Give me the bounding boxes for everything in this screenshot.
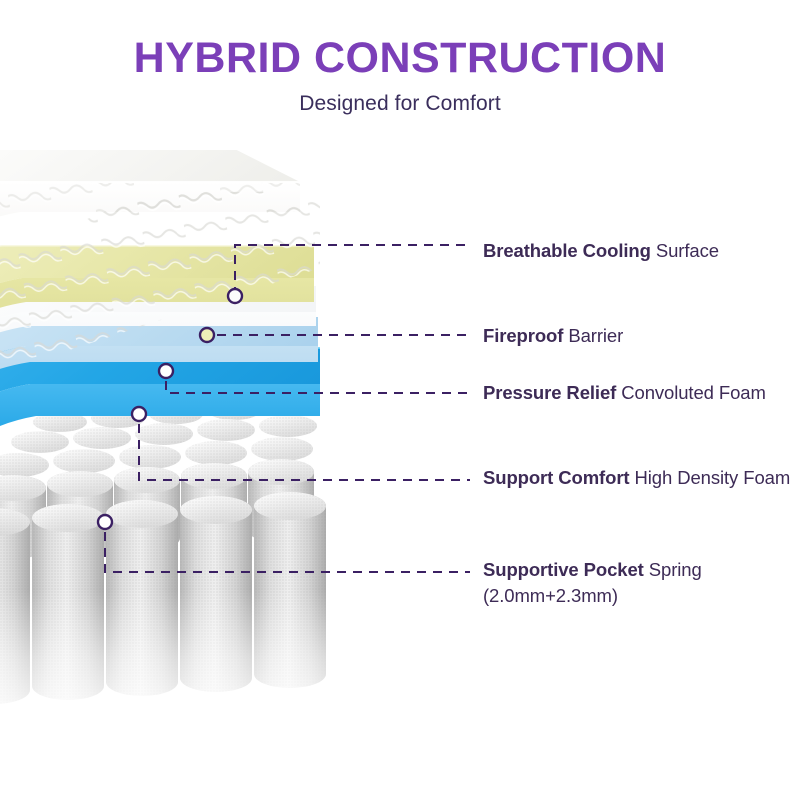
- callout-marker-fireproof: [200, 328, 214, 342]
- page-subtitle: Designed for Comfort: [0, 81, 800, 116]
- callout-label-supportive-pocket: Supportive Pocket Spring (2.0mm+2.3mm): [483, 557, 795, 610]
- callout-rest-text: Barrier: [563, 325, 623, 346]
- callout-label-pressure-relief: Pressure Relief Convoluted Foam: [483, 380, 795, 406]
- callout-bold-text: Pressure Relief: [483, 382, 616, 403]
- mattress-cutaway-illustration: [0, 150, 470, 800]
- callout-rest-text: High Density Foam: [629, 467, 790, 488]
- callout-marker-breathable-cooling: [228, 289, 242, 303]
- callout-bold-text: Breathable Cooling: [483, 240, 651, 261]
- callout-label-support-comfort: Support Comfort High Density Foam: [483, 465, 795, 491]
- infographic-canvas: HYBRID CONSTRUCTION Designed for Comfort: [0, 0, 800, 800]
- callout-label-fireproof: Fireproof Barrier: [483, 323, 795, 349]
- callout-rest-text: Convoluted Foam: [616, 382, 766, 403]
- callout-marker-pressure-relief: [159, 364, 173, 378]
- callout-marker-support-comfort: [132, 407, 146, 421]
- pocket-spring-unit: [0, 396, 350, 800]
- callout-marker-supportive-pocket: [98, 515, 112, 529]
- callout-label-breathable-cooling: Breathable Cooling Surface: [483, 238, 795, 264]
- callout-bold-text: Fireproof: [483, 325, 563, 346]
- callout-rest-text: Surface: [651, 240, 719, 261]
- page-title: HYBRID CONSTRUCTION: [0, 0, 800, 81]
- callout-bold-text: Support Comfort: [483, 467, 629, 488]
- header: HYBRID CONSTRUCTION Designed for Comfort: [0, 0, 800, 116]
- callout-bold-text: Supportive Pocket: [483, 559, 644, 580]
